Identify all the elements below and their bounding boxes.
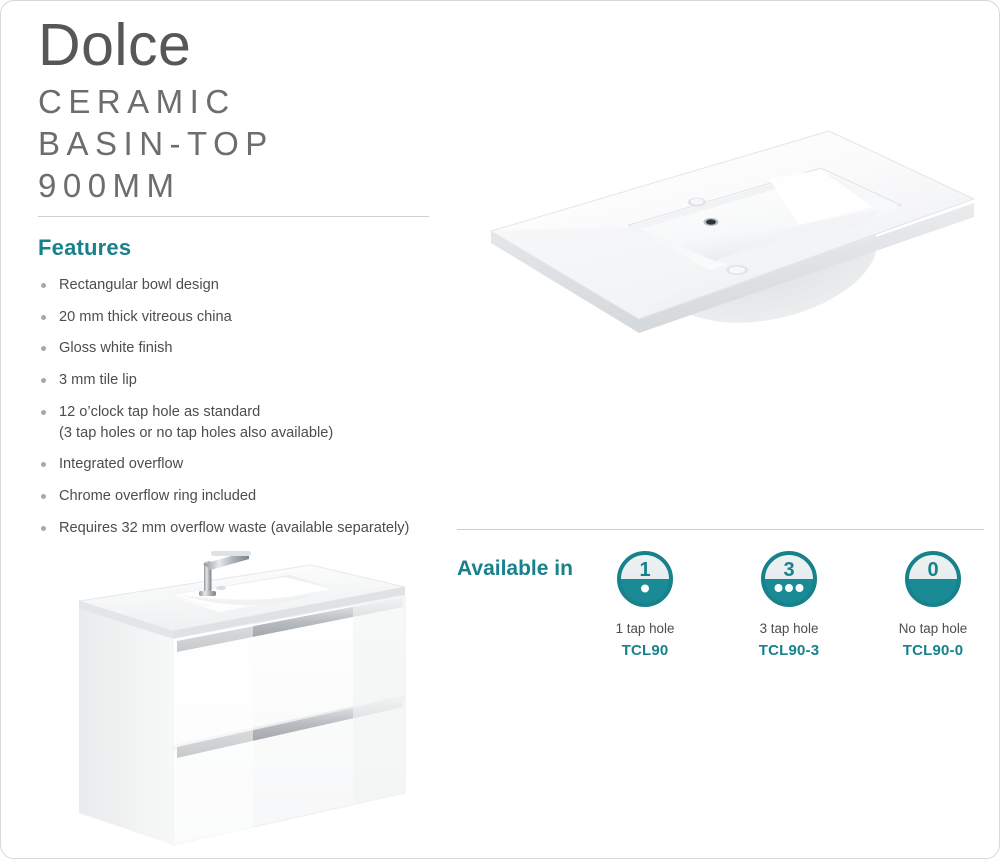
available-in-divider [457, 529, 984, 530]
badge-number: 3 [783, 559, 794, 581]
option-label: 3 tap hole [735, 620, 843, 637]
tap-hole-badge-0-icon: 0 [902, 548, 964, 610]
option-label: 1 tap hole [591, 620, 699, 637]
option-1-tap-hole[interactable]: 1 1 tap hole TCL90 [591, 548, 699, 659]
list-item: 20 mm thick vitreous china [38, 307, 438, 328]
option-sku: TCL90-3 [735, 642, 843, 659]
option-label: No tap hole [879, 620, 987, 637]
tap-hole-badge-3-icon: 3 [758, 548, 820, 610]
list-item: Rectangular bowl design [38, 275, 438, 296]
basin-product-photo [469, 121, 989, 381]
vanity-product-photo [53, 509, 443, 854]
available-in-heading: Available in [457, 557, 573, 581]
features-heading: Features [38, 235, 131, 261]
tap-hole-badge-1-icon: 1 [614, 548, 676, 610]
list-item: Chrome overflow ring included [38, 486, 438, 507]
list-item: Integrated overflow [38, 454, 438, 475]
available-in-options: 1 1 tap hole TCL90 [591, 548, 987, 659]
list-item: 3 mm tile lip [38, 370, 438, 391]
page-title: Dolce [38, 15, 438, 77]
product-spec-sheet: Dolce CERAMIC BASIN-TOP 900MM Features R… [0, 0, 1000, 859]
badge-number: 1 [639, 559, 650, 581]
option-sku: TCL90 [591, 642, 699, 659]
option-sku: TCL90-0 [879, 642, 987, 659]
page-subtitle: CERAMIC BASIN-TOP 900MM [38, 81, 438, 208]
list-item: 12 o’clock tap hole as standard (3 tap h… [38, 402, 438, 444]
option-3-tap-hole[interactable]: 3 3 tap hole TCL90-3 [735, 548, 843, 659]
option-no-tap-hole[interactable]: 0 No tap hole TCL90-0 [879, 548, 987, 659]
title-divider [38, 216, 429, 217]
title-block: Dolce CERAMIC BASIN-TOP 900MM [38, 15, 438, 208]
badge-number: 0 [927, 559, 938, 581]
list-item: Gloss white finish [38, 338, 438, 359]
